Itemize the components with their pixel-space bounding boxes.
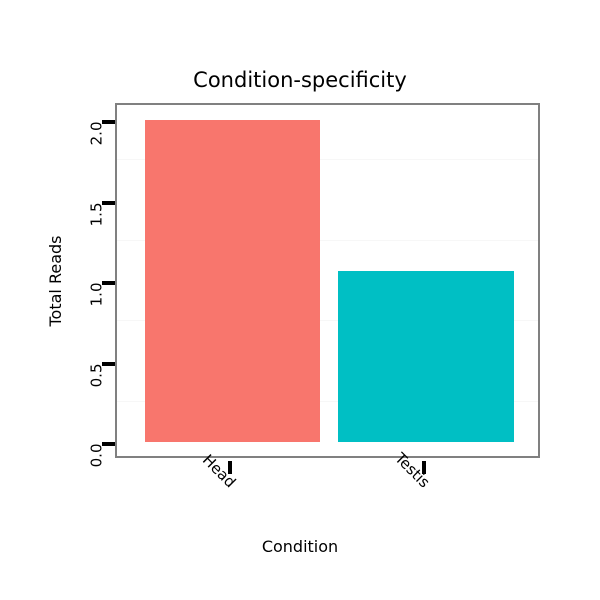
x-tick-label-head: Head [200,452,238,490]
y-tick-label: 0.0 [90,444,105,468]
y-axis-title: Total Reads [48,221,64,341]
y-tick-label: 2.0 [90,122,105,146]
x-axis-title: Condition [0,538,600,556]
y-tick-label: 1.5 [90,202,105,226]
bar-testis[interactable] [338,271,514,442]
plot-area [117,105,538,456]
plot-panel [115,103,540,458]
bar-head[interactable] [145,120,320,442]
chart-title: Condition-specificity [0,68,600,92]
chart-canvas: Condition-specificity Total Reads 0.00.5… [0,0,600,600]
y-tick-label: 1.0 [90,283,105,307]
y-tick-label: 0.5 [90,363,105,387]
